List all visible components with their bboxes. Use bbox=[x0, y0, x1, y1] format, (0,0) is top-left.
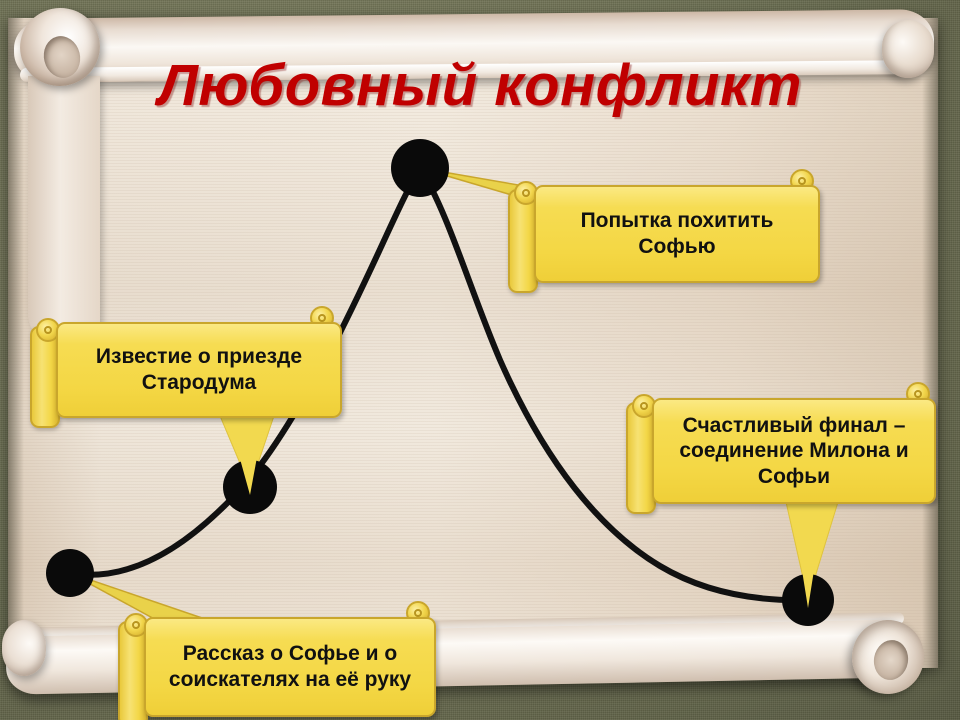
node-climax[interactable] bbox=[391, 139, 449, 197]
callout-exposition[interactable]: Рассказ о Софье и о соискателях на её ру… bbox=[118, 607, 436, 719]
node-exposition[interactable] bbox=[46, 549, 94, 597]
callout-rising-text: Известие о приезде Стародума bbox=[56, 322, 342, 418]
callout-peak[interactable]: Попытка похитить Софью bbox=[508, 175, 820, 285]
callout-resolution[interactable]: Счастливый финал – соединение Милона и С… bbox=[626, 388, 936, 508]
callout-exposition-text: Рассказ о Софье и о соискателях на её ру… bbox=[144, 617, 436, 717]
callout-peak-text: Попытка похитить Софью bbox=[534, 185, 820, 283]
slide-canvas: Любовный конфликт Попытка похитить Софью… bbox=[0, 0, 960, 720]
callout-rising[interactable]: Известие о приезде Стародума bbox=[30, 312, 342, 420]
callout-resolution-text: Счастливый финал – соединение Милона и С… bbox=[652, 398, 936, 504]
